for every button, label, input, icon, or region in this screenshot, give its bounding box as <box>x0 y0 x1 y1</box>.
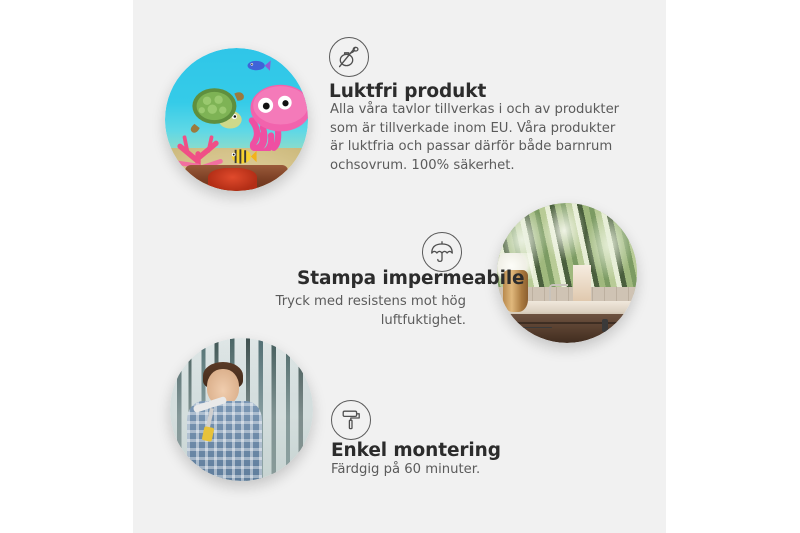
underwater-kids-mural-photo <box>165 48 308 191</box>
turtle-icon <box>184 82 247 136</box>
feature-body-easy-assembly: Färdgig på 60 minuter. <box>331 461 581 480</box>
painter-forest-mural-photo <box>170 338 313 481</box>
product-feature-banner: Luktfri produkt Alla våra tavlor tillver… <box>0 0 800 533</box>
blue-fish-icon <box>245 57 271 74</box>
feature-body-odor-free: Alla våra tavlor tillverkas i och av pro… <box>330 101 620 175</box>
feature-title-odor-free: Luktfri produkt <box>329 81 486 102</box>
feature-title-easy-assembly: Enkel montering <box>331 440 501 461</box>
paint-roller-icon <box>331 400 371 440</box>
feature-title-waterproof-print: Stampa impermeabile <box>297 268 525 289</box>
octopus-icon <box>245 82 308 151</box>
no-perfume-icon <box>329 37 369 77</box>
feature-body-waterproof-print: Tryck med resistens mot hög luftfuktighe… <box>221 293 466 330</box>
umbrella-icon <box>422 232 462 272</box>
